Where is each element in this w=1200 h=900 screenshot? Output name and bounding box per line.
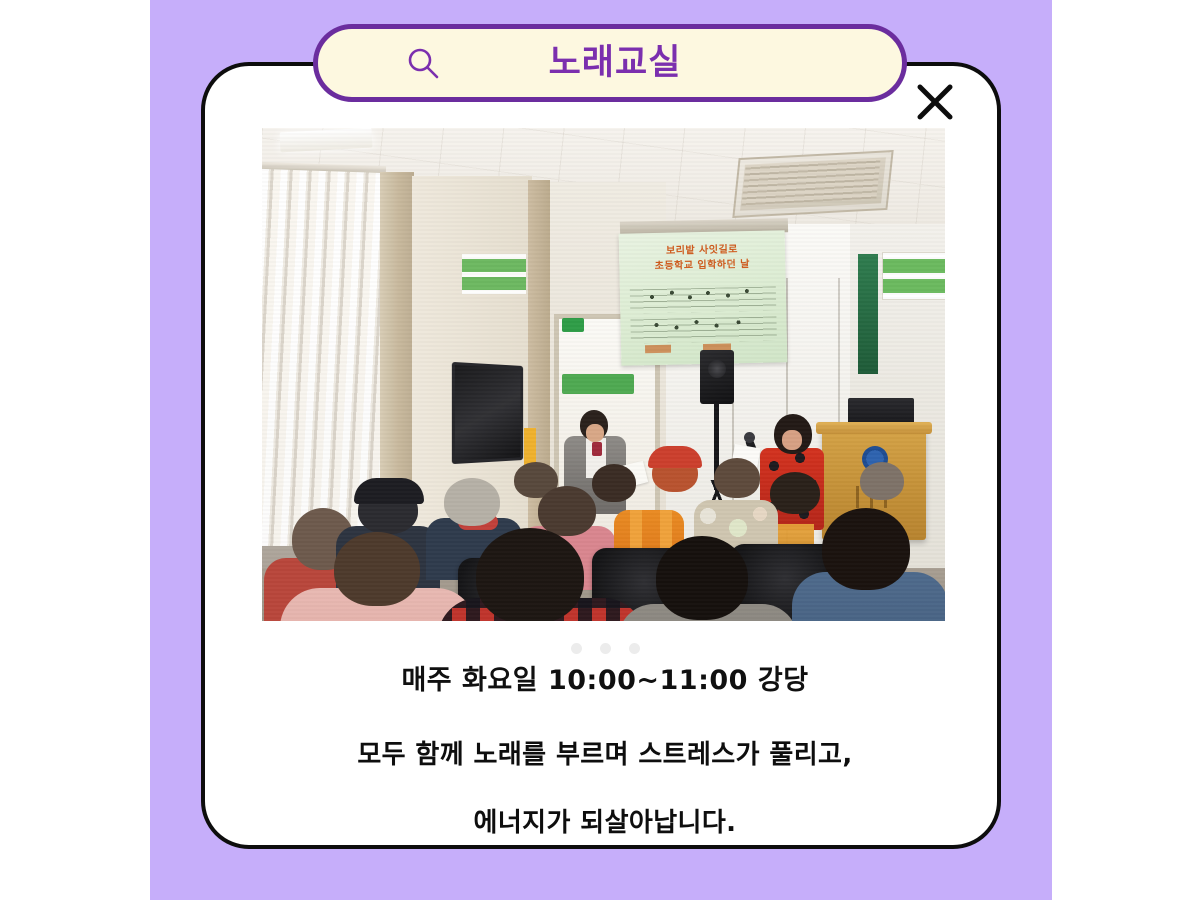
- microphone-head: [744, 432, 755, 443]
- audience-head: [476, 528, 584, 621]
- presenter-man-tie: [592, 442, 602, 456]
- audience-head: [714, 458, 760, 498]
- exit-sign: [562, 318, 584, 332]
- title-search-pill[interactable]: 노래교실: [313, 24, 907, 102]
- presenter-man-face: [586, 424, 604, 442]
- audience-head: [592, 464, 636, 502]
- podium-top: [816, 422, 932, 434]
- audience-head: [656, 536, 748, 620]
- content-card: 보리밭 사잇길로 초등학교 입학하던 날: [201, 62, 1001, 849]
- description-line-1: 모두 함께 노래를 부르며 스트레스가 풀리고,: [205, 742, 1005, 768]
- projection-screen-text: 보리밭 사잇길로 초등학교 입학하던 날: [619, 242, 786, 274]
- audience-head: [444, 478, 500, 526]
- music-notes: [646, 315, 762, 333]
- schedule-highlight: 매주 화요일 10:00~11:00 강당: [385, 662, 824, 700]
- screen-line-1: 보리밭 사잇길로: [666, 244, 738, 257]
- carousel-dots: [205, 643, 1005, 654]
- audience-black-cap: [354, 478, 424, 504]
- audience-head: [334, 532, 420, 606]
- audience-head: [860, 462, 904, 500]
- green-banner: [562, 374, 634, 394]
- audience-head: [822, 508, 910, 590]
- close-button[interactable]: [912, 80, 958, 124]
- carousel-dot-3[interactable]: [629, 643, 640, 654]
- audience-head: [770, 472, 820, 514]
- screen-line-2: 초등학교 입학하던 날: [655, 259, 750, 272]
- search-icon: [406, 46, 440, 80]
- projection-screen: 보리밭 사잇길로 초등학교 입학하던 날: [619, 230, 788, 365]
- green-wall-accent: [858, 254, 878, 374]
- green-notice-board: [462, 254, 526, 294]
- ceiling-ac-grill: [741, 159, 880, 206]
- photo-canvas: 보리밭 사잇길로 초등학교 입학하던 날: [262, 128, 945, 621]
- caption-block: 매주 화요일 10:00~11:00 강당 모두 함께 노래를 부르며 스트레스…: [205, 662, 1005, 836]
- audience-red-cap: [648, 446, 702, 468]
- green-notice-board: [882, 252, 945, 300]
- wall-monitor: [452, 362, 523, 464]
- carousel-dot-2[interactable]: [600, 643, 611, 654]
- event-photo[interactable]: 보리밭 사잇길로 초등학교 입학하던 날: [262, 128, 945, 621]
- pa-speaker-cone: [708, 360, 726, 378]
- music-notes: [646, 285, 762, 303]
- carousel-dot-1[interactable]: [571, 643, 582, 654]
- instructor-face: [782, 430, 802, 450]
- description-line-2: 에너지가 되살아납니다.: [205, 810, 1005, 836]
- screen-root: 보리밭 사잇길로 초등학교 입학하던 날: [0, 0, 1200, 900]
- audience-head: [538, 486, 596, 536]
